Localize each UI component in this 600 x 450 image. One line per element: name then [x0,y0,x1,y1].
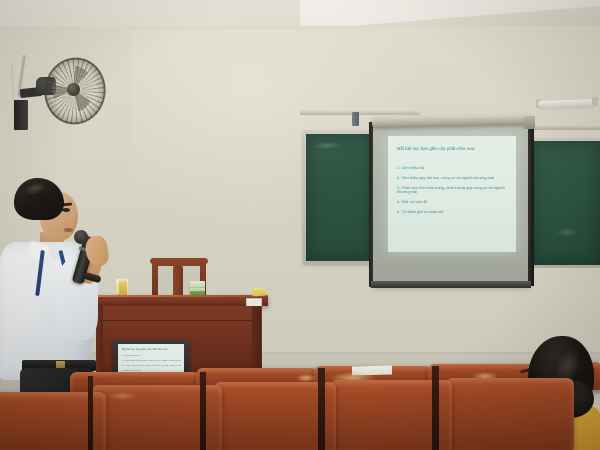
tea-glass-highlight [117,279,119,294]
desk-panel-seam [96,320,262,321]
slide-bullet: 2. Giới thiệu quy bài học, cùng cơ sở ng… [397,176,510,181]
slide-bullet: 5. Tự đánh giá và nhận xét [397,210,510,215]
laptop-slide-bullet: 1. Giới thiệu bài [122,355,181,358]
green-box-stripe [190,288,205,291]
screen-roller-end-cap [524,116,535,129]
laptop-slide-bullet: 3. Phân tích tích trình trạng, chất lượn… [122,365,181,368]
laptop-slide-title: Mỗi bài học bao gồm các phần như sau: [122,348,181,351]
seat-scratch [108,392,138,400]
chalk-dust-icon [556,228,578,237]
fan-wall-bracket [14,100,28,130]
speaker-mouth [64,228,73,232]
seat-divider [88,376,93,450]
seat-divider [432,366,439,450]
speaker-eye [62,208,70,212]
fan-hub [67,83,80,96]
chalkboard-rail-left [300,110,420,115]
slide-bullet: 3. Phân tích tích trình trạng, chất lượn… [397,186,510,195]
ceiling-light-cap-right [592,97,598,106]
laptop-slide-bullet: 2. Giới thiệu quy bài học, cùng cơ sở ng… [122,360,181,363]
chalkboard-left [306,134,378,261]
slide-title: Mỗi bài học bao gồm các phần như sau: [397,146,509,151]
slide-bullet: 4. Giải núi vấn để [397,200,510,205]
yellow-desk-item [252,288,266,297]
classroom-presentation-photo: Mỗi bài học bao gồm các phần như sau: 1.… [0,0,600,450]
seat-scratch [296,374,316,382]
slide-bullet-list: 1. Giới thiệu bài 2. Giới thiệu quy bài … [397,166,510,220]
desk-top-highlight [90,295,266,297]
screen-weight-bar [371,281,531,288]
slide-bullet: 1. Giới thiệu bài [397,166,510,171]
seat-back [446,378,574,450]
projection-screen-edge-right [528,126,534,286]
seat-divider [200,372,206,450]
seat-divider [318,368,325,450]
chalkboard-rail-right [524,125,600,130]
projected-slide: Mỗi bài học bao gồm các phần như sau: 1.… [388,136,516,252]
speaker-nose [70,214,77,224]
chalkboard-right [531,141,600,265]
screen-mounting-hook [352,112,359,126]
chair-center-post [173,266,183,298]
